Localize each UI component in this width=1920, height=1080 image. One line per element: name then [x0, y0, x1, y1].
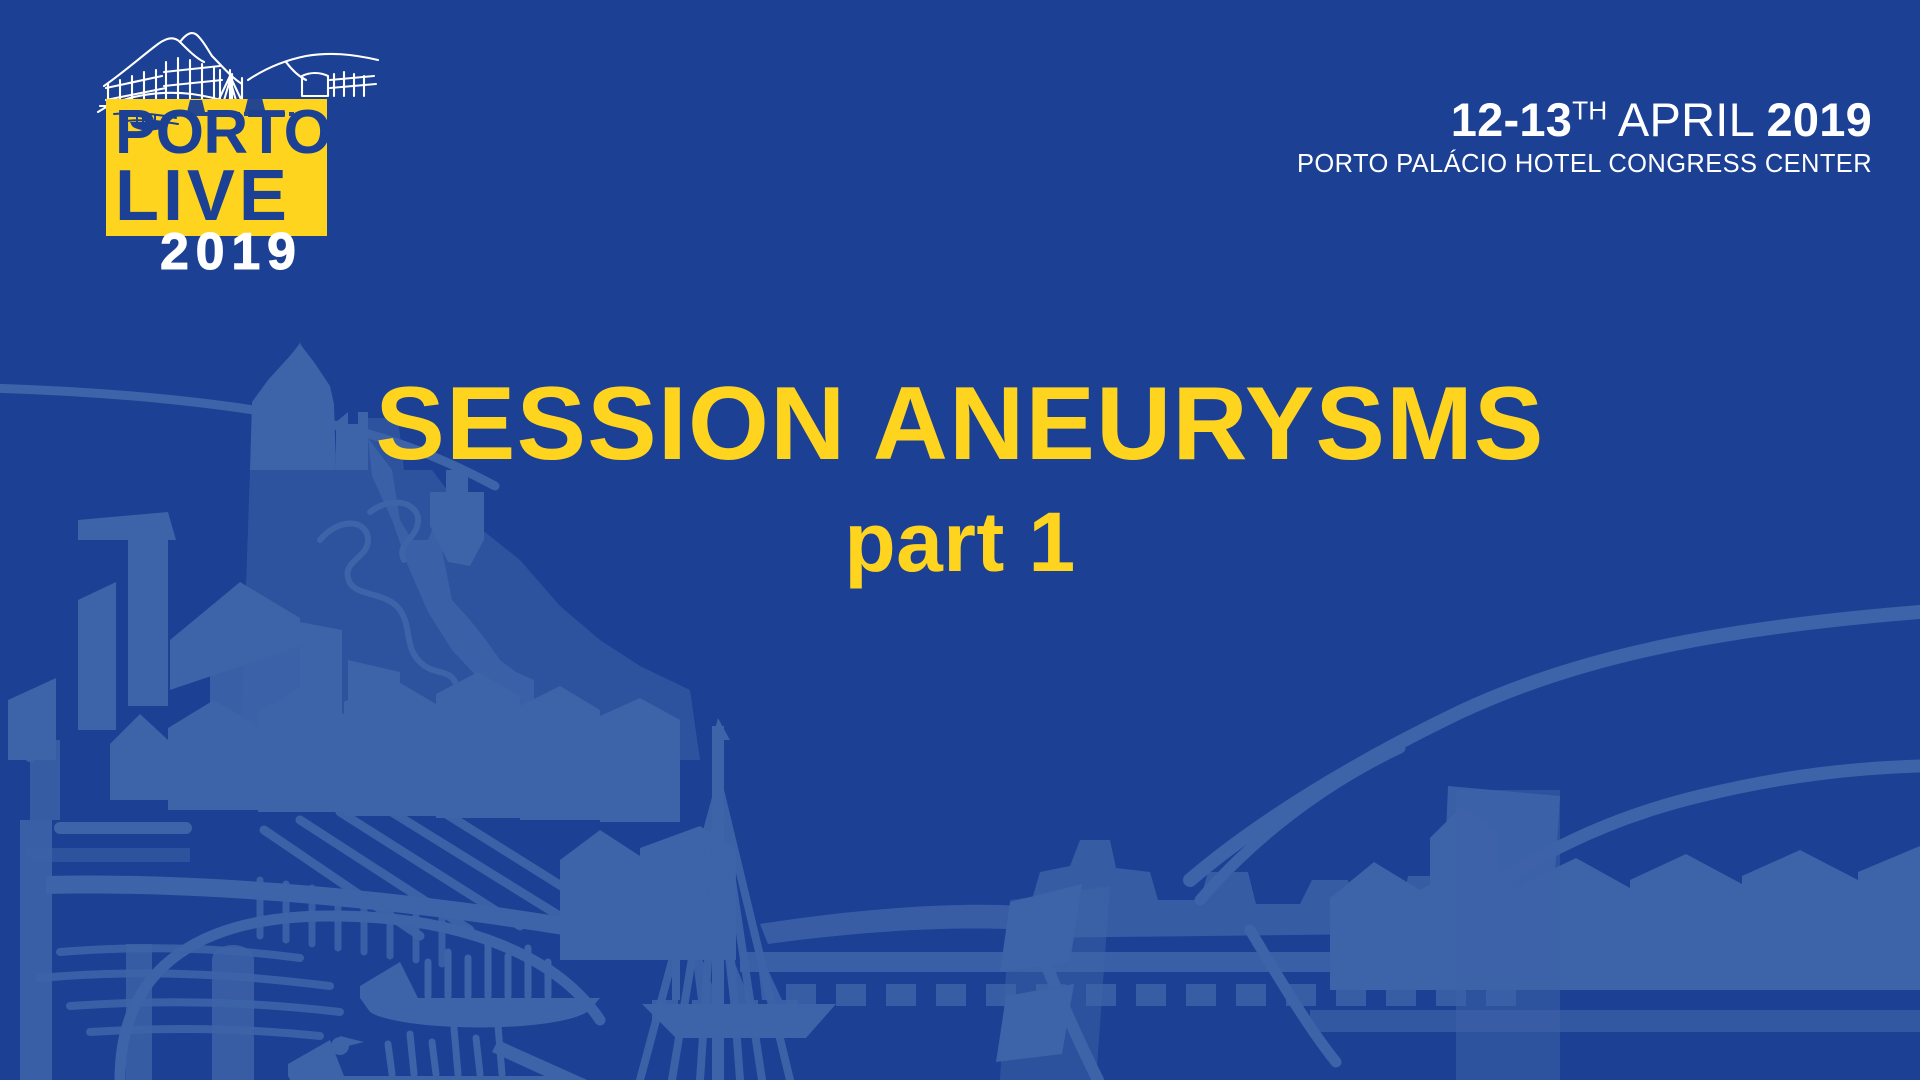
event-date-ordinal: TH: [1572, 95, 1607, 125]
session-title: SESSION ANEURYSMS: [0, 372, 1920, 476]
logo-porto-text: PORTO: [115, 102, 331, 164]
event-date-range: 12-13: [1451, 93, 1572, 146]
logo-year-text: 2019: [160, 226, 303, 278]
event-info-block: 12-13TH APRIL 2019 PORTO PALÁCIO HOTEL C…: [1297, 96, 1872, 178]
event-date-line: 12-13TH APRIL 2019: [1297, 96, 1872, 144]
event-year: 2019: [1767, 93, 1873, 146]
event-venue: PORTO PALÁCIO HOTEL CONGRESS CENTER: [1297, 150, 1872, 178]
session-title-block: SESSION ANEURYSMS part 1: [0, 372, 1920, 584]
event-month: APRIL: [1607, 93, 1766, 146]
session-part: part 1: [0, 500, 1920, 584]
conference-title-slide: .ill { fill:#3D63A8; } .ills{ fill:none;…: [0, 0, 1920, 1080]
porto-live-logo: PORTO LIVE 2019: [80, 14, 380, 279]
logo-live-text: LIVE: [115, 160, 291, 232]
